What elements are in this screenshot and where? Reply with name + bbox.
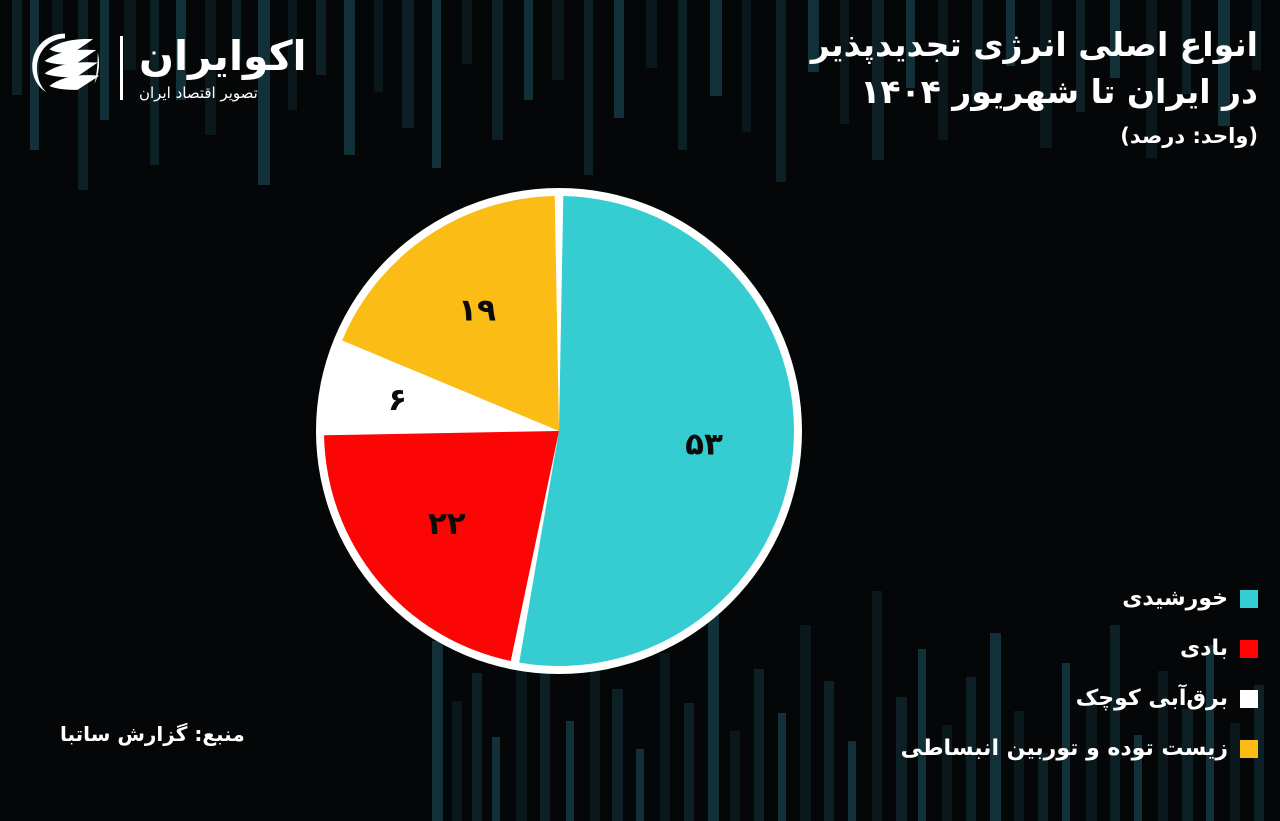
legend-item[interactable]: خورشیدی (838, 586, 1258, 611)
legend-swatch-small-hydro (1240, 690, 1258, 708)
legend-item[interactable]: زیست توده و توربین انبساطی (838, 736, 1258, 761)
background-bar (432, 0, 441, 168)
legend-item-label: بادی (1180, 636, 1228, 661)
background-bar (566, 721, 574, 821)
logo-divider (120, 36, 123, 100)
background-bar (12, 0, 22, 95)
chart-title-line-1: انواع اصلی انرژی تجدیدپذیر (638, 22, 1258, 69)
pie-slice-value-label: ۲۲ (428, 506, 466, 542)
background-bar (614, 0, 624, 118)
brand-name: اکوایران (139, 36, 307, 77)
background-bar (584, 0, 593, 175)
background-bar (462, 0, 472, 64)
background-bar (754, 669, 764, 821)
background-bar (492, 0, 503, 140)
background-bar (612, 689, 623, 821)
pie-chart: ۵۳۲۲۶۱۹ (308, 180, 810, 682)
background-bar (316, 0, 326, 75)
background-bar (636, 749, 644, 821)
background-bar (730, 731, 740, 821)
eco-iran-swoosh-icon (26, 29, 104, 107)
legend-swatch-biomass (1240, 740, 1258, 758)
legend-item-label: برق‌آبی کوچک (1076, 686, 1228, 711)
title-block: انواع اصلی انرژی تجدیدپذیر در ایران تا ش… (638, 22, 1258, 148)
pie-slice-value-label: ۱۹ (458, 292, 496, 328)
background-bar (540, 661, 550, 821)
background-bar (524, 0, 533, 100)
chart-unit-note: (واحد: درصد) (638, 124, 1258, 148)
pie-slice-value-label: ۵۳ (685, 427, 723, 463)
legend-item-label: خورشیدی (1122, 586, 1228, 611)
background-bar (1038, 753, 1048, 821)
legend-item[interactable]: برق‌آبی کوچک (838, 686, 1258, 711)
legend-item[interactable]: بادی (838, 636, 1258, 661)
background-bar (552, 0, 564, 80)
legend-swatch-solar (1240, 590, 1258, 608)
background-bar (778, 713, 786, 821)
background-bar (824, 681, 834, 821)
chart-title-line-2: در ایران تا شهریور ۱۴۰۴ (638, 69, 1258, 116)
background-bar (452, 701, 462, 821)
brand-tagline: تصویر اقتصاد ایران (139, 86, 258, 101)
chart-legend: خورشیدیبادیبرق‌آبی کوچکزیست توده و توربی… (838, 586, 1258, 761)
background-bar (684, 703, 694, 821)
source-note: منبع: گزارش ساتبا (60, 722, 245, 746)
logo-text-block: اکوایران تصویر اقتصاد ایران (139, 36, 307, 101)
pie-slice-group (316, 188, 802, 674)
background-bar (402, 0, 414, 128)
infographic-canvas: اکوایران تصویر اقتصاد ایران انواع اصلی ا… (0, 0, 1280, 821)
background-bar (472, 673, 482, 821)
brand-logo: اکوایران تصویر اقتصاد ایران (26, 20, 316, 116)
background-bar (344, 0, 355, 155)
legend-item-label: زیست توده و توربین انبساطی (901, 736, 1228, 761)
pie-chart-svg: ۵۳۲۲۶۱۹ (308, 180, 810, 682)
background-bar (374, 0, 383, 92)
pie-slice-value-label: ۶ (388, 382, 407, 418)
background-bar (492, 737, 500, 821)
legend-swatch-wind (1240, 640, 1258, 658)
